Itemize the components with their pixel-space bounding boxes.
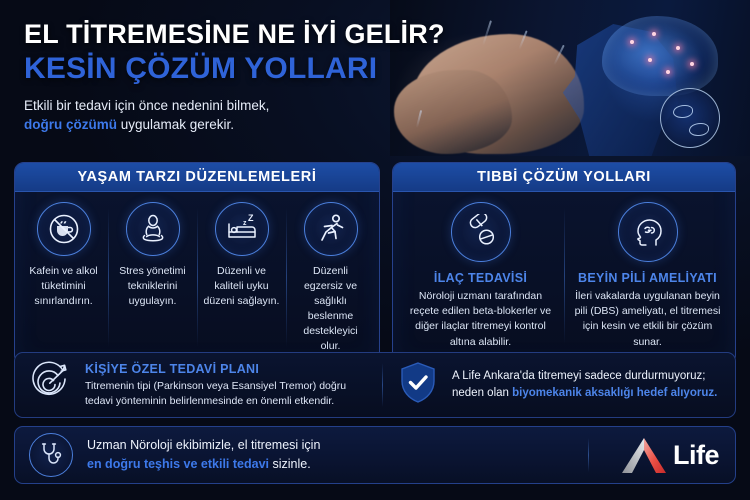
- medical-item-medication: İLAÇ TEDAVİSİ Nöroloji uzmanı tarafından…: [397, 202, 564, 350]
- footer-line1: Uzman Nöroloji ekibimizle, el titremesi …: [87, 438, 320, 452]
- personal-plan-block: KİŞİYE ÖZEL TEDAVİ PLANI Titremenin tipi…: [15, 360, 382, 411]
- footer-line2-highlight: en doğru teşhis ve etkili tedavi: [87, 457, 269, 471]
- shield-check-icon: [397, 360, 439, 411]
- a-life-logo[interactable]: Life: [603, 435, 721, 475]
- neuron-spark-icon: [630, 40, 634, 44]
- lifestyle-panel-header: YAŞAM TARZI DÜZENLEMELERİ: [15, 163, 379, 192]
- a-life-logo-mark: [619, 435, 669, 475]
- medical-item-title: BEYİN PİLİ AMELİYATI: [574, 271, 721, 285]
- brain-head-icon: [618, 202, 678, 262]
- medical-panel-header: TIBBİ ÇÖZÜM YOLLARI: [393, 163, 735, 192]
- meditation-icon: [126, 202, 180, 256]
- hero-text-block: EL TİTREMESİNE NE İYİ GELİR? KESİN ÇÖZÜM…: [24, 20, 464, 135]
- medical-item-text: Nöroloji uzmanı tarafından reçete edilen…: [407, 289, 554, 350]
- personal-plan-body: Titremenin tipi (Parkinson veya Esansiye…: [85, 379, 370, 408]
- running-exercise-icon: [304, 202, 358, 256]
- footer-bar: Uzman Nöroloji ekibimizle, el titremesi …: [14, 426, 736, 484]
- pills-medication-icon: [451, 202, 511, 262]
- footer-text: Uzman Nöroloji ekibimizle, el titremesi …: [87, 436, 320, 474]
- footer-line2-rest: sizinle.: [269, 457, 311, 471]
- hero-subtitle-line1: Etkili bir tedavi için önce nedenini bil…: [24, 98, 269, 113]
- lifestyle-item-exercise: Düzenli egzersiz ve sağlıklı beslenme de…: [286, 202, 375, 353]
- promise-line2-prefix: neden olan: [452, 387, 512, 399]
- neuron-zoom-circle: [660, 88, 720, 148]
- hero-subtitle-highlight: doğru çözümü: [24, 117, 117, 132]
- footer-divider: [588, 438, 589, 472]
- svg-text:z: z: [243, 220, 247, 227]
- promise-text: A Life Ankara'da titremeyi sadece durdur…: [452, 368, 717, 402]
- personal-plan-title: KİŞİYE ÖZEL TEDAVİ PLANI: [85, 362, 370, 376]
- medical-panel: TIBBİ ÇÖZÜM YOLLARI İLAÇ TEDAVİSİ Nörolo…: [392, 162, 736, 365]
- personal-plan-text: KİŞİYE ÖZEL TEDAVİ PLANI Titremenin tipi…: [85, 362, 370, 408]
- page-title-primary: EL TİTREMESİNE NE İYİ GELİR?: [24, 20, 464, 50]
- page-title-secondary: KESİN ÇÖZÜM YOLLARI: [24, 52, 464, 86]
- lifestyle-panel: YAŞAM TARZI DÜZENLEMELERİ Kafein ve alko…: [14, 162, 380, 365]
- a-life-logo-text: Life: [673, 442, 719, 469]
- medical-item-title: İLAÇ TEDAVİSİ: [407, 271, 554, 285]
- lifestyle-panel-body: Kafein ve alkol tüketimini sınırlandırın…: [15, 192, 379, 364]
- lifestyle-item-label: Kafein ve alkol tüketimini sınırlandırın…: [25, 264, 102, 309]
- hero-subtitle: Etkili bir tedavi için önce nedenini bil…: [24, 96, 464, 134]
- lifestyle-item-caffeine: Kafein ve alkol tüketimini sınırlandırın…: [19, 202, 108, 353]
- promise-block: A Life Ankara'da titremeyi sadece durdur…: [383, 360, 735, 411]
- lifestyle-item-sleep: z Z Düzenli ve kaliteli uyku düzeni sağl…: [197, 202, 286, 353]
- neuron-spark-icon: [690, 62, 694, 66]
- infographic-root: EL TİTREMESİNE NE İYİ GELİR? KESİN ÇÖZÜM…: [0, 0, 750, 500]
- neuron-spark-icon: [648, 58, 652, 62]
- panels-row: YAŞAM TARZI DÜZENLEMELERİ Kafein ve alko…: [14, 162, 736, 365]
- neuron-cell-icon: [673, 105, 693, 118]
- brain-illustration: [602, 16, 718, 96]
- lifestyle-item-label: Düzenli ve kaliteli uyku düzeni sağlayın…: [203, 264, 280, 309]
- promise-line2-highlight: biyomekanik aksaklığı hedef alıyoruz.: [512, 387, 717, 399]
- neuron-spark-icon: [676, 46, 680, 50]
- hero-subtitle-rest: uygulamak gerekir.: [117, 117, 234, 132]
- medical-panel-body: İLAÇ TEDAVİSİ Nöroloji uzmanı tarafından…: [393, 192, 735, 361]
- neuron-cell-icon: [689, 123, 709, 136]
- no-caffeine-alcohol-icon: [37, 202, 91, 256]
- svg-text:Z: Z: [248, 213, 254, 223]
- neuron-spark-icon: [652, 32, 656, 36]
- target-arrow-icon: [27, 360, 73, 411]
- lifestyle-item-label: Stres yönetimi tekniklerini uygulayın.: [114, 264, 191, 309]
- mid-row: KİŞİYE ÖZEL TEDAVİ PLANI Titremenin tipi…: [14, 352, 736, 418]
- lifestyle-item-label: Düzenli egzersiz ve sağlıklı beslenme de…: [292, 264, 369, 353]
- stethoscope-icon: [29, 433, 73, 477]
- hero-section: EL TİTREMESİNE NE İYİ GELİR? KESİN ÇÖZÜM…: [0, 0, 750, 156]
- promise-line1: A Life Ankara'da titremeyi sadece durdur…: [452, 370, 705, 382]
- medical-item-dbs: BEYİN PİLİ AMELİYATI İleri vakalarda uyg…: [564, 202, 731, 350]
- lifestyle-item-stress: Stres yönetimi tekniklerini uygulayın.: [108, 202, 197, 353]
- neuron-spark-icon: [666, 70, 670, 74]
- medical-item-text: İleri vakalarda uygulanan beyin pili (DB…: [574, 289, 721, 350]
- sleep-bed-icon: z Z: [215, 202, 269, 256]
